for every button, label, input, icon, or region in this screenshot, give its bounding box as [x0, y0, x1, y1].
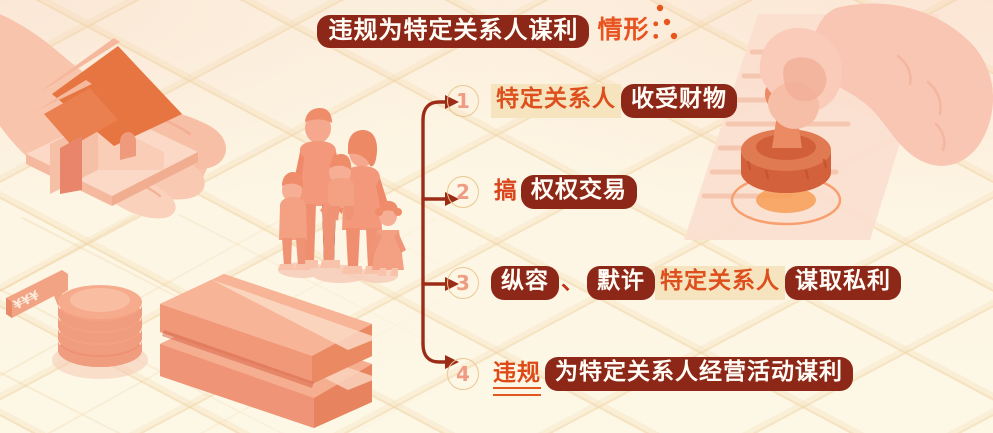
bracket-top-elbow: [423, 102, 445, 120]
bracket-bottom-elbow: [423, 344, 445, 362]
item-number-2: 2: [447, 176, 479, 208]
item-1-segment-1: 特定关系人: [491, 84, 621, 117]
figure-child-right: [370, 201, 406, 276]
family-group-illustration: [262, 98, 412, 283]
item-3-segment-3: 默许: [587, 266, 655, 299]
list-item: 1 特定关系人 收受财物: [447, 70, 987, 132]
coin-stack: [52, 285, 148, 379]
title-tail: 情形：: [597, 10, 675, 46]
clause-list: 1 特定关系人 收受财物 2 搞 权权交易 3 纵容 、 默许 特定关系人 谋取…: [447, 70, 987, 433]
title-chip: 违规为特定关系人谋利: [317, 15, 589, 48]
page-title: 违规为特定关系人谋利 情形：: [0, 10, 993, 48]
item-4-segment-1: 违规: [491, 361, 545, 386]
item-3-segment-1: 纵容: [491, 266, 559, 299]
item-2-segment-1: 搞: [491, 179, 521, 204]
list-item: 2 搞 权权交易: [447, 161, 987, 223]
cash-bundles: [160, 274, 372, 428]
item-number-3: 3: [447, 267, 479, 299]
item-1-segment-2: 收受财物: [621, 84, 737, 117]
item-number-4: 4: [447, 358, 479, 390]
infographic-canvas: ¥¥¥: [0, 0, 993, 433]
item-4-segment-2: 为特定关系人经营活动谋利: [545, 357, 853, 390]
list-item: 3 纵容 、 默许 特定关系人 谋取私利: [447, 252, 987, 314]
item-3-segment-2: 、: [559, 270, 587, 295]
item-2-segment-2: 权权交易: [521, 175, 637, 208]
list-item: 4 违规 为特定关系人经营活动谋利: [447, 343, 987, 405]
item-number-1: 1: [447, 85, 479, 117]
item-3-segment-4: 特定关系人: [655, 266, 785, 299]
item-3-segment-5: 谋取私利: [785, 266, 901, 299]
